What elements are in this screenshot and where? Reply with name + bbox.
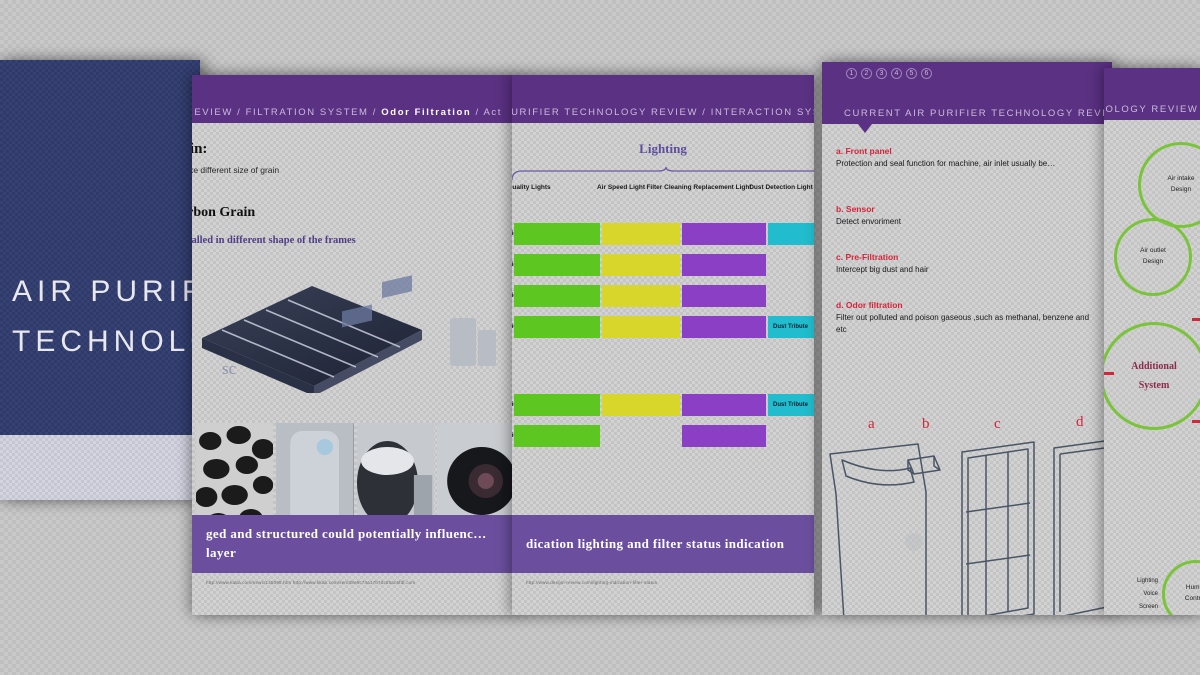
- slide-component-breakdown[interactable]: 123456 CURRENT AIR PURIFIER TECHNOLOGY R…: [822, 62, 1112, 615]
- diagram-label-d: d: [1076, 414, 1084, 431]
- slide-title[interactable]: AIR PURIFI TECHNOLOG: [0, 60, 200, 500]
- matrix-row[interactable]: Light: [512, 425, 814, 447]
- step-dot-icon[interactable]: 1: [846, 68, 857, 79]
- reference-links: http://www.kaba.com/news/145098.htm http…: [206, 580, 415, 585]
- slide-footer-statement: ged and structured could potentially inf…: [192, 515, 517, 573]
- section-subtext-grain: ny or make different size of grain: [192, 165, 279, 175]
- component-desc: Filter out polluted and poison gaseous ,…: [836, 312, 1098, 335]
- matrix-cell-label: Dust Tribute: [768, 394, 814, 416]
- component-entry-sensor: b. Sensor Detect envoriment: [836, 204, 1112, 228]
- matrix-cell[interactable]: [602, 223, 680, 245]
- step-dot-icon[interactable]: 3: [876, 68, 887, 79]
- breadcrumb-pre: CURRENT AIR PURIFIER TECHNOLOGY REVIEW /: [844, 108, 1112, 119]
- matrix-cell[interactable]: [514, 425, 600, 447]
- reference-links: http://www.desgin-review.com/lighting-in…: [526, 580, 657, 585]
- diagram-label-b: b: [922, 416, 930, 433]
- page-title-line1: AIR PURIFI: [12, 275, 200, 309]
- component-desc: Protection and seal function for machine…: [836, 158, 1112, 170]
- section-heading-grain: n Grain:: [192, 141, 207, 158]
- breadcrumb-post: / Act: [476, 107, 502, 118]
- node-label-line2: System: [1139, 376, 1170, 395]
- component-key: c. Pre-Filtration: [836, 252, 1112, 262]
- slide-system-map[interactable]: …NOLOGY REVIEW / REC Air intake Design A…: [1104, 68, 1200, 615]
- matrix-cell[interactable]: [514, 394, 600, 416]
- title-slide-footer-band: [0, 435, 200, 500]
- column-header: Dust Detection Light: [726, 183, 814, 193]
- diagram-label-a: a: [868, 416, 875, 433]
- component-key: b. Sensor: [836, 204, 1112, 214]
- node-additional-system[interactable]: Additional System: [1104, 322, 1200, 430]
- matrix-cell[interactable]: [602, 394, 680, 416]
- node-label-line2: Design: [1143, 257, 1163, 268]
- matrix-cell[interactable]: [682, 425, 766, 447]
- matrix-cell[interactable]: [682, 394, 766, 416]
- exploded-view-diagram: a b c d: [822, 424, 1112, 615]
- matrix-cell[interactable]: [602, 285, 680, 307]
- matrix-row[interactable]: Light: [512, 285, 814, 307]
- step-dot-icon[interactable]: 4: [891, 68, 902, 79]
- section-heading-carbon-grain: Carbon Grain: [192, 205, 255, 221]
- component-desc: Intercept big dust and hair: [836, 264, 1112, 276]
- component-entry-pre-filtration: c. Pre-Filtration Intercept big dust and…: [836, 252, 1112, 276]
- connector-tick-right-top: [1192, 318, 1200, 321]
- breadcrumb-bar: 123456 CURRENT AIR PURIFIER TECHNOLOGY R…: [822, 62, 1112, 124]
- matrix-row[interactable]: Light: [512, 254, 814, 276]
- connector-tick-left: [1104, 372, 1114, 375]
- svg-text:sc: sc: [222, 359, 237, 378]
- slide-body: Air intake Design Air outlet Design Addi…: [1104, 120, 1200, 615]
- matrix-cell[interactable]: [514, 254, 600, 276]
- breadcrumb-pre: …NOLOGY REVIEW /: [1104, 104, 1200, 115]
- step-indicator[interactable]: 123456: [846, 68, 932, 79]
- matrix-cell[interactable]: [682, 254, 766, 276]
- component-entry-front-panel: a. Front panel Protection and seal funct…: [836, 146, 1112, 170]
- node-air-outlet-design[interactable]: Air outlet Design: [1114, 218, 1192, 296]
- matrix-cell[interactable]: [768, 223, 814, 245]
- matrix-cell[interactable]: [514, 316, 600, 338]
- component-key: a. Front panel: [836, 146, 1112, 156]
- slide-interaction-lighting[interactable]: …URIFIER TECHNOLOGY REVIEW / INTERACTION…: [512, 75, 814, 615]
- matrix-cell-label: Dust Tribute: [768, 316, 814, 338]
- breadcrumb[interactable]: …NOLOGY REVIEW / REC: [1104, 104, 1200, 115]
- breadcrumb-pre: …URIFIER TECHNOLOGY REVIEW / INTERACTION…: [512, 107, 814, 118]
- slide-footer-statement: dication lighting and filter status indi…: [512, 515, 814, 573]
- step-dot-icon[interactable]: 6: [921, 68, 932, 79]
- matrix-row[interactable]: Light: [512, 223, 814, 245]
- title-slide-background: [0, 60, 200, 435]
- matrix-cell[interactable]: Dust Tribute: [768, 394, 814, 416]
- node-label-line2: Design: [1171, 185, 1191, 196]
- matrix-cell[interactable]: Dust Tribute: [768, 316, 814, 338]
- page-title-line2: TECHNOLOG: [12, 325, 200, 359]
- section-note-frames: be installed in different shape of the f…: [192, 235, 356, 246]
- chart-title: Lighting: [512, 141, 814, 157]
- matrix-cell[interactable]: [602, 316, 680, 338]
- feature-list-item: Voice: [1137, 588, 1158, 601]
- breadcrumb-pre: OLOGY REVIEW / FILTRATION SYSTEM /: [192, 107, 377, 118]
- feature-list-item: Lighting: [1137, 575, 1158, 588]
- chart-column-headers: Quality Lights Air Speed Light Filter Cl…: [512, 183, 814, 219]
- matrix-cell[interactable]: [514, 223, 600, 245]
- component-desc: Detect envoriment: [836, 216, 1112, 228]
- matrix-row[interactable]: LightDust Tribute: [512, 316, 814, 338]
- breadcrumb[interactable]: CURRENT AIR PURIFIER TECHNOLOGY REVIEW /…: [844, 108, 1112, 119]
- component-key: d. Odor filtration: [836, 300, 1098, 310]
- matrix-cell[interactable]: [682, 285, 766, 307]
- diagram-label-c: c: [994, 416, 1001, 433]
- feature-list-item: Timing: [1137, 614, 1158, 615]
- node-air-intake-design[interactable]: Air intake Design: [1138, 142, 1200, 228]
- matrix-row[interactable]: LightDust Tribute: [512, 394, 814, 416]
- node-humidity-control[interactable]: Hum… Contr…: [1162, 560, 1200, 615]
- step-dot-icon[interactable]: 5: [906, 68, 917, 79]
- node-label-line1: Air outlet: [1140, 246, 1166, 257]
- matrix-cell[interactable]: [682, 223, 766, 245]
- node-label-line1: Additional: [1131, 357, 1177, 376]
- matrix-cell[interactable]: [682, 316, 766, 338]
- slide-body: a. Front panel Protection and seal funct…: [822, 124, 1112, 615]
- lighting-matrix[interactable]: LightLightLightLightDust TributeLightDus…: [512, 223, 814, 456]
- breadcrumb-current: Odor Filtration: [381, 107, 471, 118]
- component-entry-odor-filtration: d. Odor filtration Filter out polluted a…: [836, 300, 1098, 335]
- breadcrumb-bar: OLOGY REVIEW / FILTRATION SYSTEM / Odor …: [192, 75, 517, 123]
- connector-tick-right-bottom: [1192, 420, 1200, 423]
- node-label-line1: Hum…: [1186, 583, 1200, 594]
- grouping-brace: [512, 167, 814, 181]
- matrix-cell[interactable]: [602, 254, 680, 276]
- node-label-line2: Contr…: [1185, 594, 1200, 605]
- feature-list[interactable]: LightingVoiceScreenTiming: [1137, 575, 1158, 615]
- matrix-cell[interactable]: [514, 285, 600, 307]
- feature-list-item: Screen: [1137, 601, 1158, 614]
- breadcrumb[interactable]: OLOGY REVIEW / FILTRATION SYSTEM / Odor …: [192, 107, 502, 118]
- node-label-line1: Air intake: [1167, 174, 1194, 185]
- slide-odor-filtration[interactable]: OLOGY REVIEW / FILTRATION SYSTEM / Odor …: [192, 75, 517, 615]
- breadcrumb-bar: …NOLOGY REVIEW / REC: [1104, 68, 1200, 120]
- carbon-filter-illustration: sc: [192, 268, 517, 393]
- breadcrumb[interactable]: …URIFIER TECHNOLOGY REVIEW / INTERACTION…: [512, 107, 814, 118]
- breadcrumb-bar: …URIFIER TECHNOLOGY REVIEW / INTERACTION…: [512, 75, 814, 123]
- step-dot-icon[interactable]: 2: [861, 68, 872, 79]
